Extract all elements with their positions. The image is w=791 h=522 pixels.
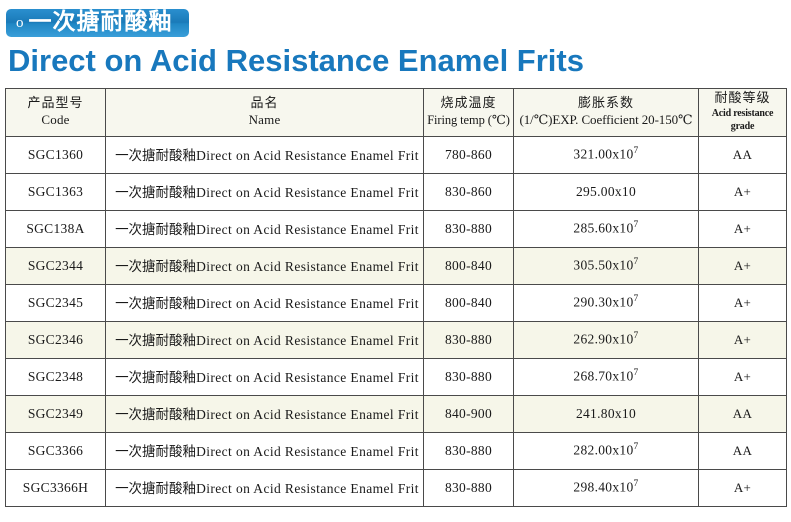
exp-exponent: 7 (634, 146, 639, 156)
cell-code: SGC138A (6, 210, 106, 247)
column-header-code-en: Code (7, 112, 104, 129)
cell-name-en: Direct on Acid Resistance Enamel Frit (196, 296, 419, 311)
table-row: SGC1363一次搪耐酸釉Direct on Acid Resistance E… (6, 173, 787, 210)
cell-exp-coefficient: 321.00x107 (514, 136, 699, 173)
exp-exponent: 7 (634, 220, 639, 230)
cell-exp-coefficient: 305.50x107 (514, 247, 699, 284)
header-row: 产品型号 Code 品名 Name 烧成温度 Firing temp (℃) 膨… (6, 88, 787, 136)
cell-code: SGC1360 (6, 136, 106, 173)
header-banner-area: o一次搪耐酸釉 (0, 0, 791, 37)
cell-exp-coefficient: 262.90x107 (514, 321, 699, 358)
column-header-acid-grade: 耐酸等级 Acid resistance grade (699, 88, 787, 136)
table-row: SGC3366一次搪耐酸釉Direct on Acid Resistance E… (6, 432, 787, 469)
exp-exponent: 7 (634, 331, 639, 341)
cell-name-en: Direct on Acid Resistance Enamel Frit (196, 333, 419, 348)
column-header-exp-coefficient: 膨胀系数 (1/℃)EXP. Coefficient 20-150℃ (514, 88, 699, 136)
cell-name-en: Direct on Acid Resistance Enamel Frit (196, 148, 419, 163)
exp-base: 290.30x10 (573, 295, 633, 310)
cell-name-en: Direct on Acid Resistance Enamel Frit (196, 444, 419, 459)
cell-name: 一次搪耐酸釉Direct on Acid Resistance Enamel F… (106, 136, 424, 173)
exp-base: 285.60x10 (573, 221, 633, 236)
exp-base: 298.40x10 (573, 480, 633, 495)
cell-name: 一次搪耐酸釉Direct on Acid Resistance Enamel F… (106, 173, 424, 210)
cell-name-cn: 一次搪耐酸釉 (115, 444, 196, 460)
cell-code: SGC1363 (6, 173, 106, 210)
cell-firing-temp: 840-900 (424, 395, 514, 432)
cell-name-en: Direct on Acid Resistance Enamel Frit (196, 481, 419, 496)
exp-exponent: 7 (634, 442, 639, 452)
cell-name-cn: 一次搪耐酸釉 (115, 259, 196, 275)
cell-acid-grade: A+ (699, 469, 787, 506)
cell-name-en: Direct on Acid Resistance Enamel Frit (196, 259, 419, 274)
cell-exp-coefficient: 268.70x107 (514, 358, 699, 395)
cell-name: 一次搪耐酸釉Direct on Acid Resistance Enamel F… (106, 321, 424, 358)
spec-table: 产品型号 Code 品名 Name 烧成温度 Firing temp (℃) 膨… (5, 88, 787, 507)
cell-acid-grade: A+ (699, 247, 787, 284)
cell-name-cn: 一次搪耐酸釉 (115, 296, 196, 312)
table-row: SGC1360一次搪耐酸釉Direct on Acid Resistance E… (6, 136, 787, 173)
cell-name: 一次搪耐酸釉Direct on Acid Resistance Enamel F… (106, 358, 424, 395)
cell-exp-coefficient: 298.40x107 (514, 469, 699, 506)
cell-firing-temp: 830-880 (424, 210, 514, 247)
cell-firing-temp: 830-880 (424, 358, 514, 395)
column-header-acid-grade-cn: 耐酸等级 (700, 91, 785, 107)
exp-base: 262.90x10 (573, 332, 633, 347)
exp-base: 305.50x10 (573, 258, 633, 273)
cell-firing-temp: 830-880 (424, 321, 514, 358)
banner-title-cn: 一次搪耐酸釉 (29, 9, 173, 35)
cell-acid-grade: A+ (699, 210, 787, 247)
cell-exp-coefficient: 285.60x107 (514, 210, 699, 247)
table-row: SGC2349一次搪耐酸釉Direct on Acid Resistance E… (6, 395, 787, 432)
cell-name-en: Direct on Acid Resistance Enamel Frit (196, 370, 419, 385)
cell-acid-grade: AA (699, 395, 787, 432)
cell-code: SGC2345 (6, 284, 106, 321)
cell-code: SGC2349 (6, 395, 106, 432)
column-header-name-en: Name (107, 112, 422, 129)
cell-exp-coefficient: 295.00x10 (514, 173, 699, 210)
cell-exp-coefficient: 241.80x10 (514, 395, 699, 432)
cell-acid-grade: AA (699, 136, 787, 173)
table-row: SGC2346一次搪耐酸釉Direct on Acid Resistance E… (6, 321, 787, 358)
cell-firing-temp: 830-860 (424, 173, 514, 210)
column-header-code: 产品型号 Code (6, 88, 106, 136)
cell-exp-coefficient: 290.30x107 (514, 284, 699, 321)
column-header-acid-grade-en: Acid resistance grade (700, 107, 785, 133)
cell-acid-grade: A+ (699, 173, 787, 210)
exp-exponent: 7 (634, 257, 639, 267)
exp-base: 268.70x10 (573, 369, 633, 384)
column-header-firing-temp-en: Firing temp (℃) (425, 112, 512, 128)
cell-name: 一次搪耐酸釉Direct on Acid Resistance Enamel F… (106, 469, 424, 506)
cell-name: 一次搪耐酸釉Direct on Acid Resistance Enamel F… (106, 284, 424, 321)
cell-code: SGC3366H (6, 469, 106, 506)
cell-name-en: Direct on Acid Resistance Enamel Frit (196, 222, 419, 237)
cell-name-cn: 一次搪耐酸釉 (115, 407, 196, 423)
cell-acid-grade: A+ (699, 284, 787, 321)
exp-exponent: 7 (634, 368, 639, 378)
exp-base: 241.80x10 (576, 406, 636, 421)
bullet-marker: o (16, 15, 24, 31)
exp-base: 321.00x10 (573, 147, 633, 162)
cell-firing-temp: 780-860 (424, 136, 514, 173)
cell-code: SGC2346 (6, 321, 106, 358)
table-row: SGC2345一次搪耐酸釉Direct on Acid Resistance E… (6, 284, 787, 321)
exp-exponent: 7 (634, 479, 639, 489)
cell-firing-temp: 800-840 (424, 247, 514, 284)
cell-name: 一次搪耐酸釉Direct on Acid Resistance Enamel F… (106, 210, 424, 247)
section-banner: o一次搪耐酸釉 (6, 9, 189, 37)
column-header-firing-temp-cn: 烧成温度 (425, 96, 512, 112)
column-header-code-cn: 产品型号 (7, 96, 104, 112)
cell-name: 一次搪耐酸釉Direct on Acid Resistance Enamel F… (106, 395, 424, 432)
cell-name-cn: 一次搪耐酸釉 (115, 333, 196, 349)
cell-firing-temp: 830-880 (424, 469, 514, 506)
exp-base: 295.00x10 (576, 184, 636, 199)
cell-code: SGC3366 (6, 432, 106, 469)
table-row: SGC3366H一次搪耐酸釉Direct on Acid Resistance … (6, 469, 787, 506)
cell-name-en: Direct on Acid Resistance Enamel Frit (196, 185, 419, 200)
column-header-name-cn: 品名 (107, 96, 422, 112)
table-row: SGC2348一次搪耐酸釉Direct on Acid Resistance E… (6, 358, 787, 395)
table-body: SGC1360一次搪耐酸釉Direct on Acid Resistance E… (6, 136, 787, 506)
cell-name-cn: 一次搪耐酸釉 (115, 185, 196, 201)
cell-firing-temp: 800-840 (424, 284, 514, 321)
cell-name-cn: 一次搪耐酸釉 (115, 148, 196, 164)
cell-name: 一次搪耐酸釉Direct on Acid Resistance Enamel F… (106, 432, 424, 469)
column-header-exp-coefficient-en: (1/℃)EXP. Coefficient 20-150℃ (515, 112, 697, 129)
exp-exponent: 7 (634, 294, 639, 304)
cell-acid-grade: AA (699, 432, 787, 469)
cell-acid-grade: A+ (699, 358, 787, 395)
cell-name-cn: 一次搪耐酸釉 (115, 370, 196, 386)
cell-firing-temp: 830-880 (424, 432, 514, 469)
cell-name-en: Direct on Acid Resistance Enamel Frit (196, 407, 419, 422)
table-header: 产品型号 Code 品名 Name 烧成温度 Firing temp (℃) 膨… (6, 88, 787, 136)
cell-exp-coefficient: 282.00x107 (514, 432, 699, 469)
column-header-firing-temp: 烧成温度 Firing temp (℃) (424, 88, 514, 136)
cell-name: 一次搪耐酸釉Direct on Acid Resistance Enamel F… (106, 247, 424, 284)
table-row: SGC138A一次搪耐酸釉Direct on Acid Resistance E… (6, 210, 787, 247)
spec-table-container: 产品型号 Code 品名 Name 烧成温度 Firing temp (℃) 膨… (5, 88, 786, 507)
cell-name-cn: 一次搪耐酸釉 (115, 481, 196, 497)
cell-acid-grade: A+ (699, 321, 787, 358)
table-row: SGC2344一次搪耐酸釉Direct on Acid Resistance E… (6, 247, 787, 284)
page-title: Direct on Acid Resistance Enamel Frits (8, 43, 791, 79)
exp-base: 282.00x10 (573, 443, 633, 458)
column-header-name: 品名 Name (106, 88, 424, 136)
cell-code: SGC2348 (6, 358, 106, 395)
column-header-exp-coefficient-cn: 膨胀系数 (515, 96, 697, 112)
cell-code: SGC2344 (6, 247, 106, 284)
cell-name-cn: 一次搪耐酸釉 (115, 222, 196, 238)
